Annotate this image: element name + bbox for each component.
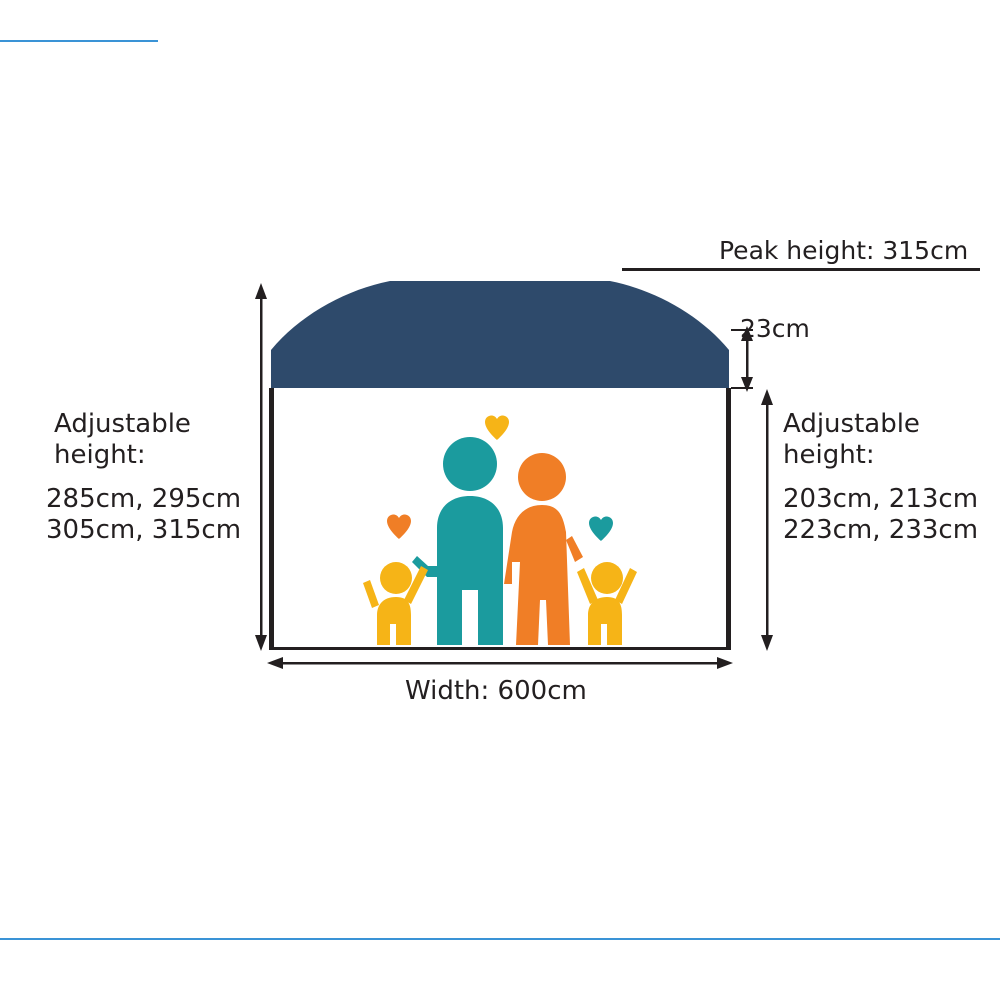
heart-right-icon (589, 516, 613, 541)
width-dimension-arrow (267, 657, 733, 669)
heart-top-icon (485, 415, 509, 440)
right-adjustable-height-title: Adjustable height: (783, 409, 920, 470)
figure-child-left (363, 562, 428, 645)
heart-left-icon (387, 514, 411, 539)
left-adjustable-height-values: 285cm, 295cm 305cm, 315cm (46, 484, 241, 545)
figure-man (412, 437, 503, 645)
left-adjustable-height-title: Adjustable height: (54, 409, 191, 470)
gap-label: 23cm (740, 314, 810, 344)
peak-height-label: Peak height: 315cm (719, 236, 968, 266)
left-post (269, 388, 274, 650)
diagram-page: Peak height: 315cm 23cm Adjustable heigh… (0, 0, 1000, 1000)
figure-woman (504, 453, 583, 645)
right-post (726, 388, 731, 650)
left-dimension-arrow (255, 283, 267, 651)
canopy-shape (271, 281, 729, 388)
ground-line (269, 647, 731, 650)
figure-child-right (577, 562, 637, 645)
peak-height-leader-line (622, 268, 980, 271)
width-label: Width: 600cm (405, 676, 587, 707)
family-illustration (363, 415, 637, 645)
right-dimension-arrow (761, 389, 773, 651)
right-adjustable-height-values: 203cm, 213cm 223cm, 233cm (783, 484, 978, 545)
